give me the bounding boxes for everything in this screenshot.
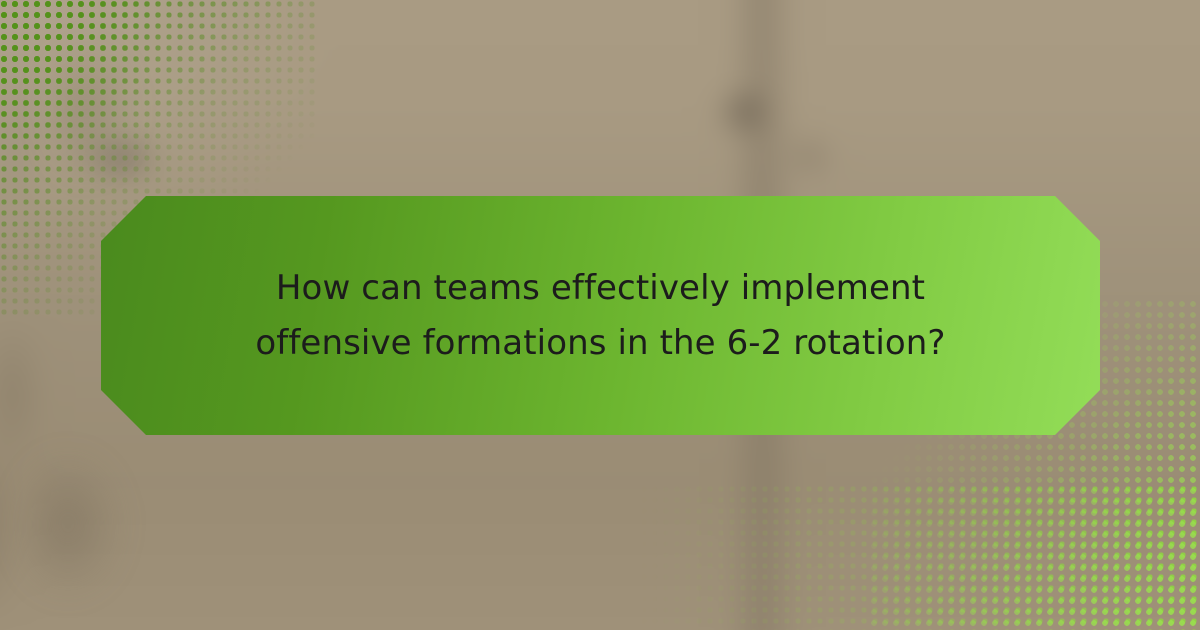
halftone-dots-top-left-dense <box>0 0 180 175</box>
poster-canvas: How can teams effectively implement offe… <box>0 0 1200 630</box>
headline-text: How can teams effectively implement offe… <box>231 261 969 371</box>
headline-banner: How can teams effectively implement offe… <box>101 196 1100 435</box>
background-blur-blob-left-lower <box>0 430 170 630</box>
